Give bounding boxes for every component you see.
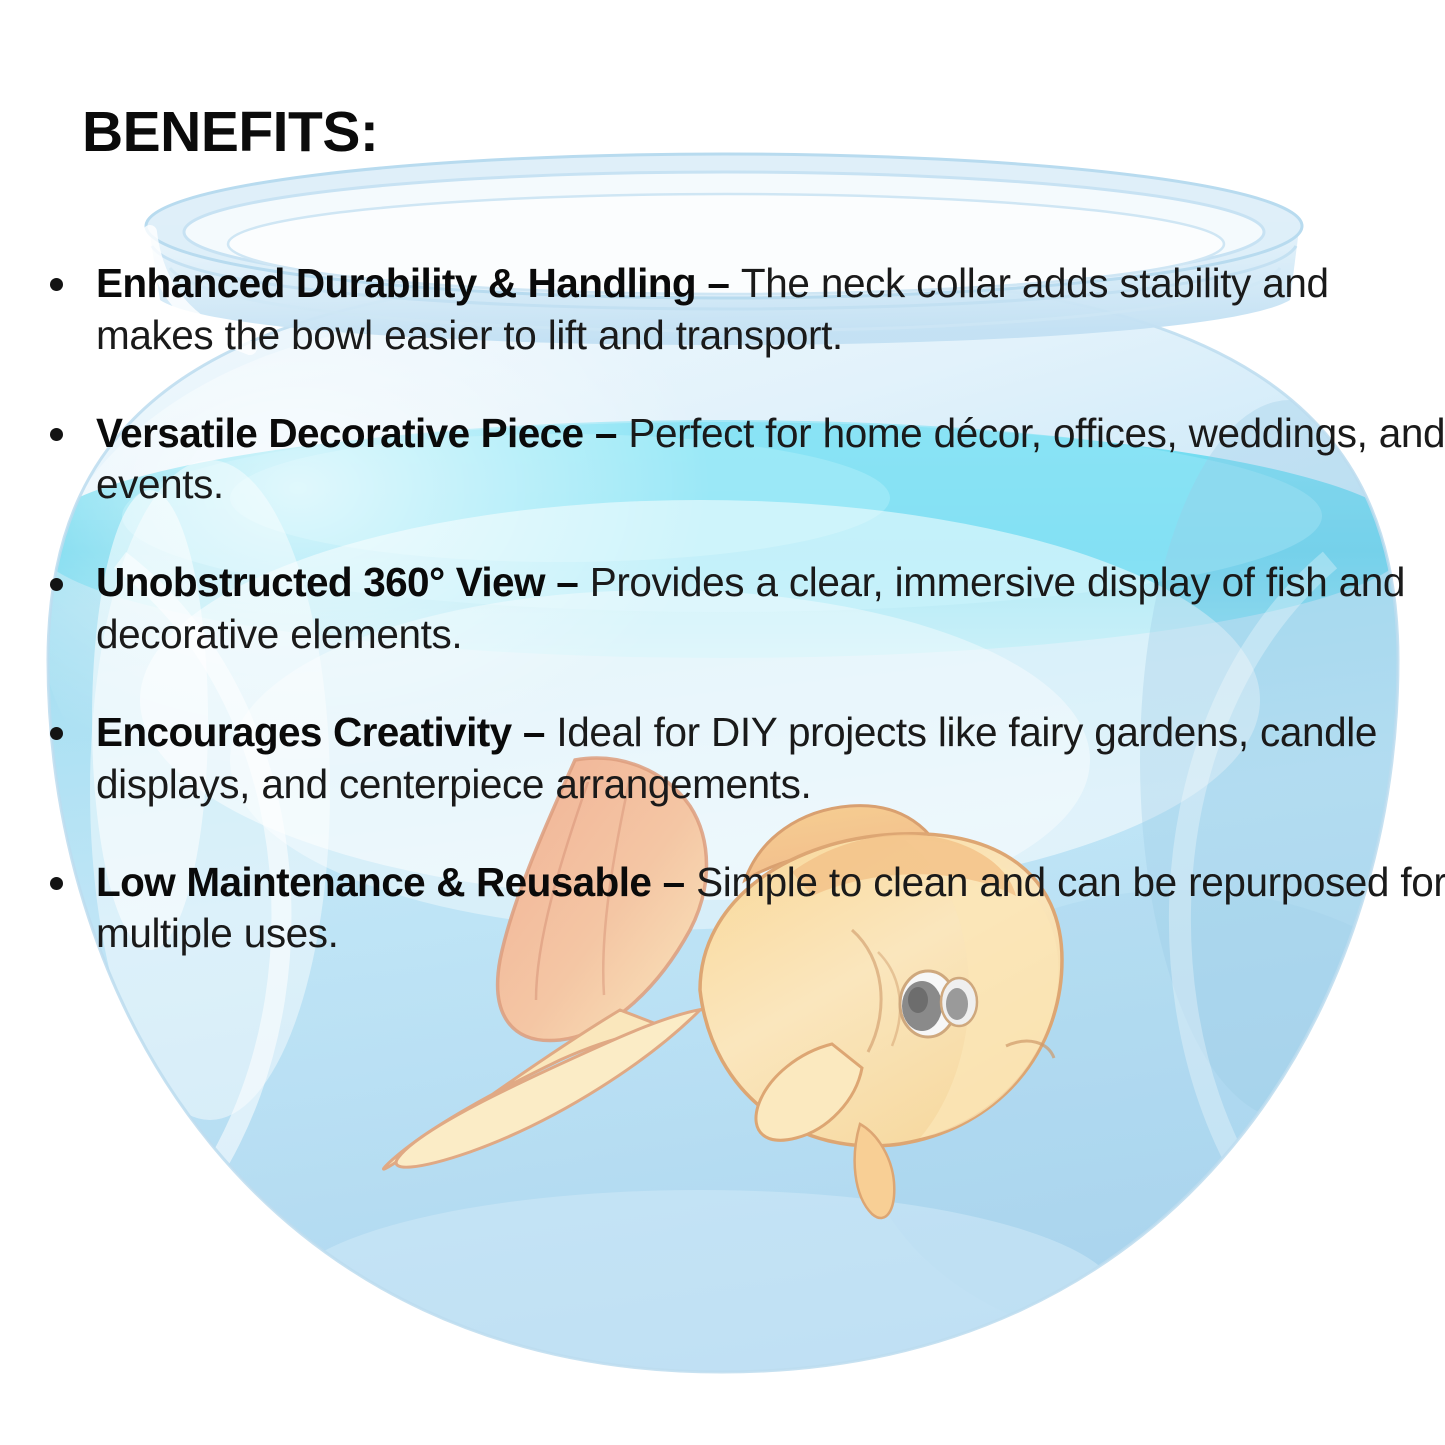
bullet-dot-icon [50, 877, 63, 890]
benefit-dash: – [651, 859, 696, 905]
bullet-dot-icon [50, 278, 63, 291]
benefit-item-decorative: Versatile Decorative Piece – Perfect for… [40, 408, 1445, 512]
bullet-dot-icon [50, 428, 63, 441]
benefits-content: BENEFITS: Enhanced Durability & Handling… [0, 0, 1445, 1445]
benefit-dash: – [696, 260, 741, 306]
benefit-item-view: Unobstructed 360° View – Provides a clea… [40, 557, 1445, 661]
bullet-dot-icon [50, 727, 63, 740]
benefit-item-maintenance: Low Maintenance & Reusable – Simple to c… [40, 857, 1445, 961]
benefit-dash: – [512, 709, 557, 755]
benefit-dash: – [583, 410, 628, 456]
benefit-label: Unobstructed 360° View [96, 559, 545, 605]
benefits-list: Enhanced Durability & Handling – The nec… [40, 258, 1445, 960]
benefit-item-durability: Enhanced Durability & Handling – The nec… [40, 258, 1445, 362]
bullet-dot-icon [50, 578, 63, 591]
benefit-label: Low Maintenance & Reusable [96, 859, 651, 905]
product-benefits-graphic: BENEFITS: Enhanced Durability & Handling… [0, 0, 1445, 1445]
benefit-dash: – [545, 559, 590, 605]
benefit-label: Encourages Creativity [96, 709, 512, 755]
benefit-label: Versatile Decorative Piece [96, 410, 583, 456]
benefit-label: Enhanced Durability & Handling [96, 260, 696, 306]
page-title: BENEFITS: [82, 104, 378, 161]
benefit-item-creativity: Encourages Creativity – Ideal for DIY pr… [40, 707, 1445, 811]
